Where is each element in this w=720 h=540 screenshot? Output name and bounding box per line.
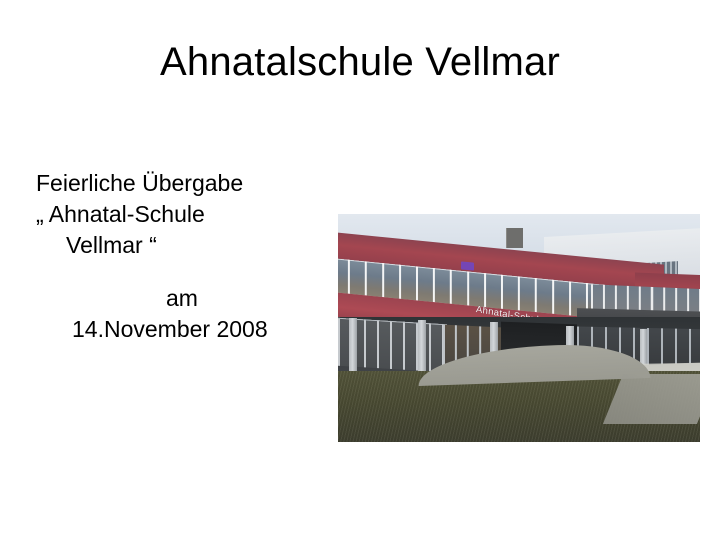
school-building-photo: Ahnatal-Schule Vellmar [338, 214, 700, 442]
body-spacer [36, 261, 336, 283]
photo-scene: Ahnatal-Schule Vellmar [338, 214, 700, 442]
photo-chimney [506, 228, 522, 249]
body-line-date: 14.November 2008 [36, 314, 336, 345]
photo-column-2 [418, 320, 426, 375]
body-line-am: am [36, 283, 336, 314]
photo-window-light-reflection [461, 261, 474, 270]
body-line-2: „ Ahnatal-Schule [36, 199, 336, 230]
body-line-1: Feierliche Übergabe [36, 168, 336, 199]
body-line-3: Vellmar “ [36, 230, 336, 261]
slide-body-text: Feierliche Übergabe „ Ahnatal-Schule Vel… [36, 168, 336, 345]
page-title: Ahnatalschule Vellmar [0, 40, 720, 84]
photo-column-1 [349, 318, 357, 375]
